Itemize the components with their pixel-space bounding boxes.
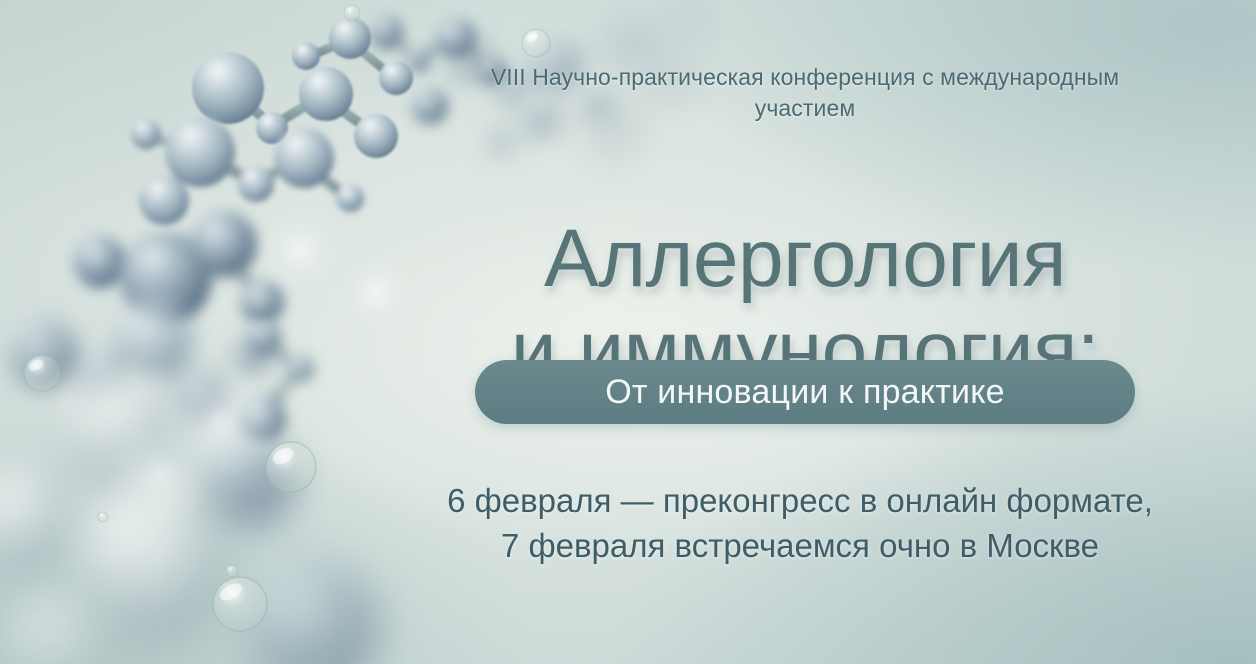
conference-eyebrow: VIII Научно-практическая конференция с м… <box>455 62 1155 124</box>
conference-banner: VIII Научно-практическая конференция с м… <box>0 0 1256 664</box>
tagline-pill: От инновации к практике <box>475 360 1135 424</box>
tagline-label: От инновации к практике <box>605 374 1005 410</box>
event-dates: 6 февраля — преконгресс в онлайн формате… <box>330 478 1256 568</box>
banner-content: VIII Научно-практическая конференция с м… <box>0 0 1256 664</box>
